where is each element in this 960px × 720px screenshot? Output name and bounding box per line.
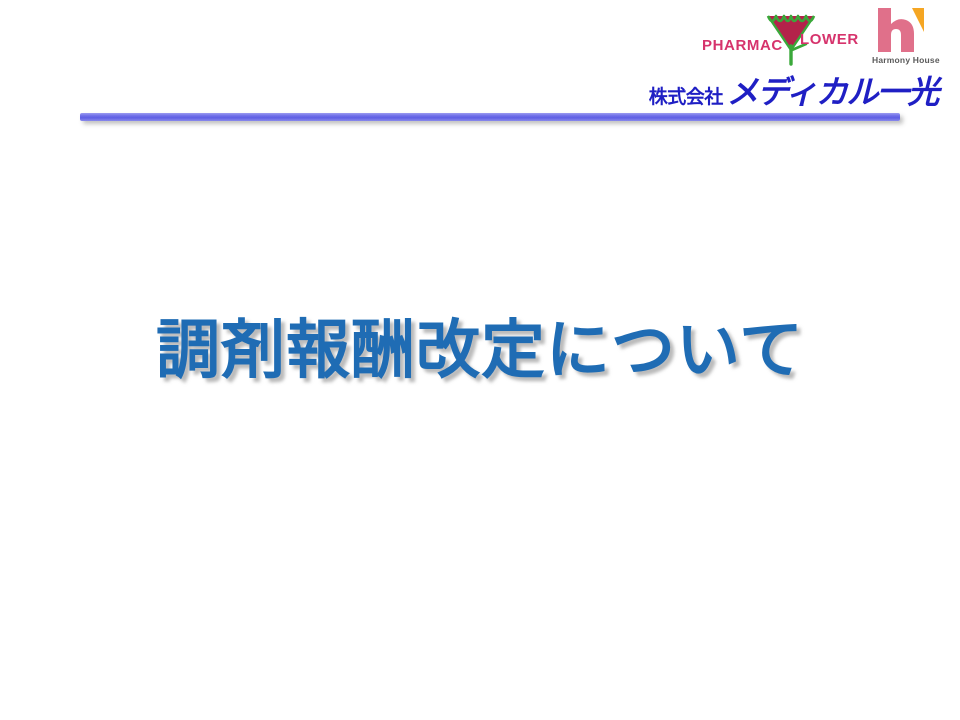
page-title: 調剤報酬改定について: [156, 318, 804, 385]
harmony-house-logo: Harmony House: [872, 6, 934, 72]
slide-canvas: PHARMAC LOWER Ha: [0, 0, 960, 720]
company-name-prefix: 株式会社: [649, 86, 723, 108]
pharmacy-flower-logo: PHARMAC LOWER: [702, 10, 874, 66]
harmony-house-h-icon: [874, 6, 926, 54]
harmony-house-caption: Harmony House: [872, 56, 934, 65]
divider-bar: [80, 113, 900, 121]
title-area: 調剤報酬改定について: [0, 318, 960, 385]
slide-header: PHARMAC LOWER Ha: [0, 0, 960, 132]
company-name-brand: メディカル一光: [727, 73, 938, 111]
pharmacy-flower-word-right: LOWER: [800, 32, 859, 47]
company-name: 株式会社メディカル一光: [649, 76, 938, 108]
